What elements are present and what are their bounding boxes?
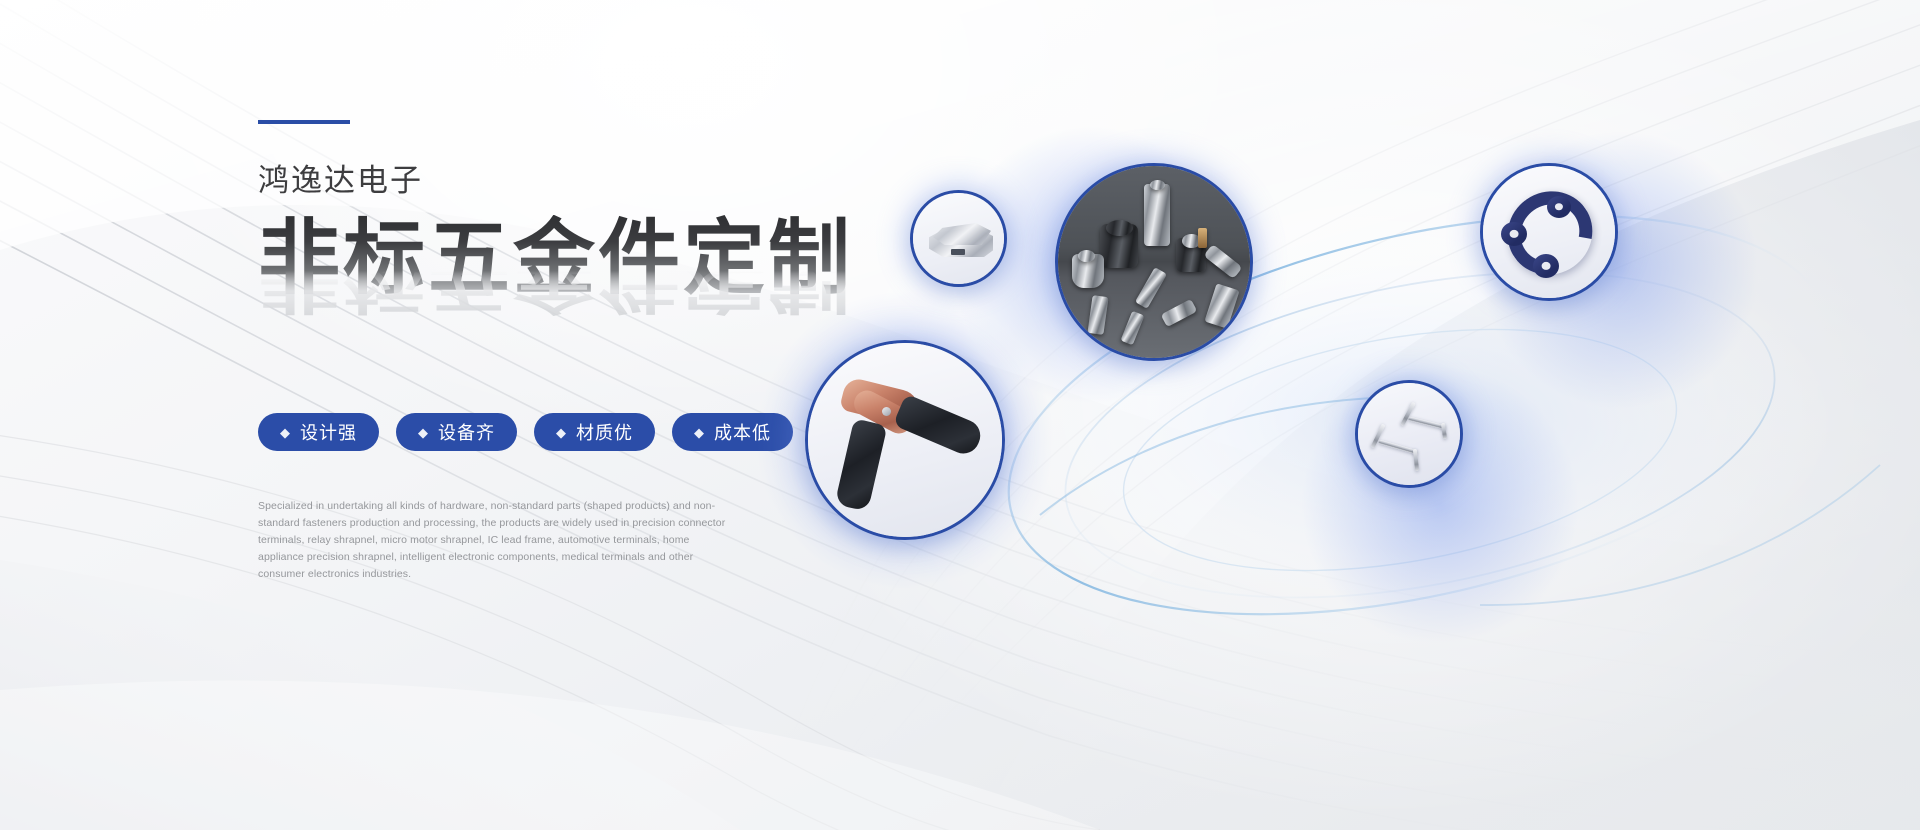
product-photo-precision-hardware-parts — [1058, 166, 1250, 358]
diamond-icon: ◆ — [418, 426, 429, 439]
headline-block: 非标五金件定制 非标五金件定制 — [258, 215, 878, 335]
product-bubble-metal-shield-case[interactable] — [910, 190, 1007, 287]
feature-tag-equipment[interactable]: ◆ 设备齐 — [396, 413, 517, 451]
diamond-icon: ◆ — [280, 426, 291, 439]
hero-banner: 鸿逸达电子 非标五金件定制 非标五金件定制 ◆ 设计强 ◆ 设备齐 ◆ 材质优 … — [0, 0, 1920, 830]
feature-tag-cost[interactable]: ◆ 成本低 — [672, 413, 793, 451]
product-photo-metal-shield-case — [913, 193, 1004, 284]
brand-name: 鸿逸达电子 — [258, 162, 878, 199]
product-photo-bent-pin-terminals — [1358, 383, 1460, 485]
product-showcase — [920, 135, 1920, 695]
diamond-icon: ◆ — [556, 426, 567, 439]
product-photo-battery-clamp — [808, 343, 1002, 537]
feature-tag-list: ◆ 设计强 ◆ 设备齐 ◆ 材质优 ◆ 成本低 — [258, 413, 878, 451]
feature-tag-label: 材质优 — [576, 419, 633, 445]
page-title: 非标五金件定制 — [258, 215, 878, 304]
diamond-icon: ◆ — [694, 426, 705, 439]
feature-tag-label: 成本低 — [714, 419, 771, 445]
feature-tag-label: 设计强 — [300, 419, 357, 445]
product-bubble-retaining-ring[interactable] — [1480, 163, 1618, 301]
product-bubble-precision-hardware-parts[interactable] — [1055, 163, 1253, 361]
feature-tag-label: 设备齐 — [438, 419, 495, 445]
product-photo-retaining-ring — [1483, 166, 1615, 298]
feature-tag-design[interactable]: ◆ 设计强 — [258, 413, 379, 451]
hero-text-column: 鸿逸达电子 非标五金件定制 非标五金件定制 ◆ 设计强 ◆ 设备齐 ◆ 材质优 … — [258, 120, 878, 583]
company-description: Specialized in undertaking all kinds of … — [258, 498, 728, 583]
feature-tag-material[interactable]: ◆ 材质优 — [534, 413, 655, 451]
accent-rule — [258, 120, 350, 124]
product-bubble-bent-pin-terminals[interactable] — [1355, 380, 1463, 488]
product-bubble-battery-clamp[interactable] — [805, 340, 1005, 540]
